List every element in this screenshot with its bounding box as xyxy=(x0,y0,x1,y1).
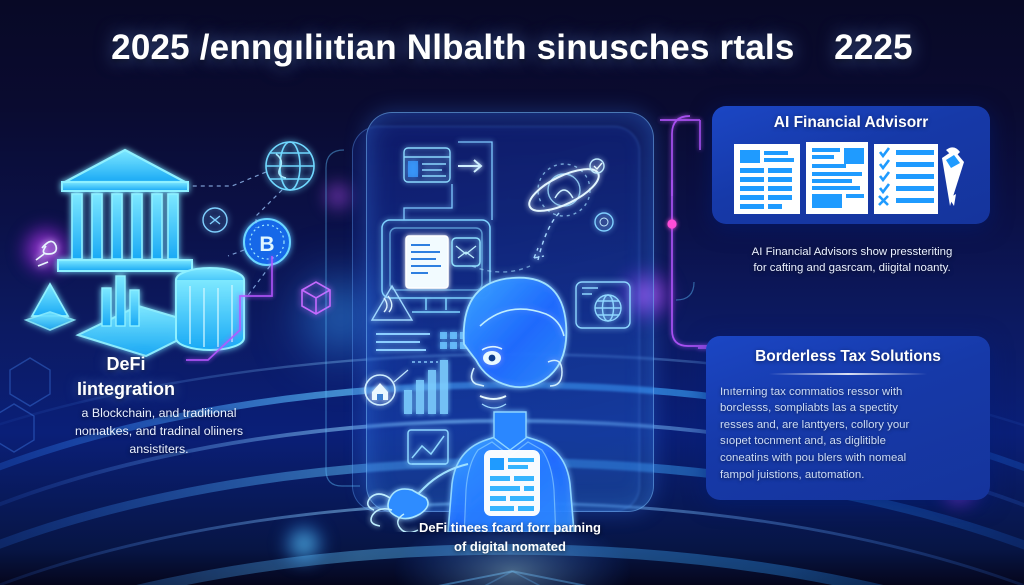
trend-chart-icon xyxy=(408,430,448,464)
home-icon xyxy=(365,370,408,405)
defi-label-line2: Iintegration xyxy=(36,377,216,402)
database-cylinder-icon xyxy=(176,268,244,350)
bitcoin-coin-icon: B xyxy=(244,219,290,265)
card-title: AI Financial Advisorr xyxy=(722,114,980,132)
page-title: 2025 /enngıliıtian Nlbalth sinusches rta… xyxy=(0,28,1024,68)
bank-building-icon xyxy=(58,150,192,271)
globe-icon xyxy=(266,142,314,190)
card-ai-financial-advisor[interactable]: AI Financial Advisorr xyxy=(712,106,990,224)
defi-icon-cluster: B xyxy=(20,120,350,370)
svg-text:B: B xyxy=(259,233,274,256)
cube-icon xyxy=(302,282,330,314)
holographic-human-figure xyxy=(352,112,652,532)
card-ai-financial-advisor-caption: AI Financial Advisors show pressteriting… xyxy=(700,244,1004,277)
orbit-planet-icon xyxy=(472,159,613,272)
pen-icon xyxy=(942,147,964,206)
defi-description: a Blockchain, and traditional nomatkes, … xyxy=(14,404,304,458)
warning-triangle-icon xyxy=(372,286,412,320)
card-title: Borderless Tax Solutions xyxy=(720,348,976,366)
share-node-icon xyxy=(203,208,227,232)
defi-label: DeFi Iintegration xyxy=(36,352,216,402)
browser-card-icon xyxy=(404,142,492,220)
data-rows-icon xyxy=(376,332,467,362)
card-divider xyxy=(769,373,928,375)
document-card-icon xyxy=(484,450,540,516)
figure-body xyxy=(368,278,574,532)
defi-label-line1: DeFi xyxy=(36,352,216,377)
card-body: Inıterning tax commatios ressor with bor… xyxy=(720,384,976,484)
center-caption: DeFi tinees fcard forr parning of digita… xyxy=(360,518,660,556)
blue-orb-bottom xyxy=(280,520,328,568)
sparkle-icon xyxy=(36,241,56,266)
infographic-canvas: 2025 /enngıliıtian Nlbalth sinusches rta… xyxy=(0,0,1024,585)
globe-shield-icon xyxy=(576,282,630,328)
open-book-ledger-icon xyxy=(730,136,972,216)
ethereum-pyramid-icon xyxy=(26,284,74,330)
bar-chart-icon xyxy=(404,360,448,414)
card-borderless-tax-solutions[interactable]: Borderless Tax Solutions Inıterning tax … xyxy=(706,336,990,500)
